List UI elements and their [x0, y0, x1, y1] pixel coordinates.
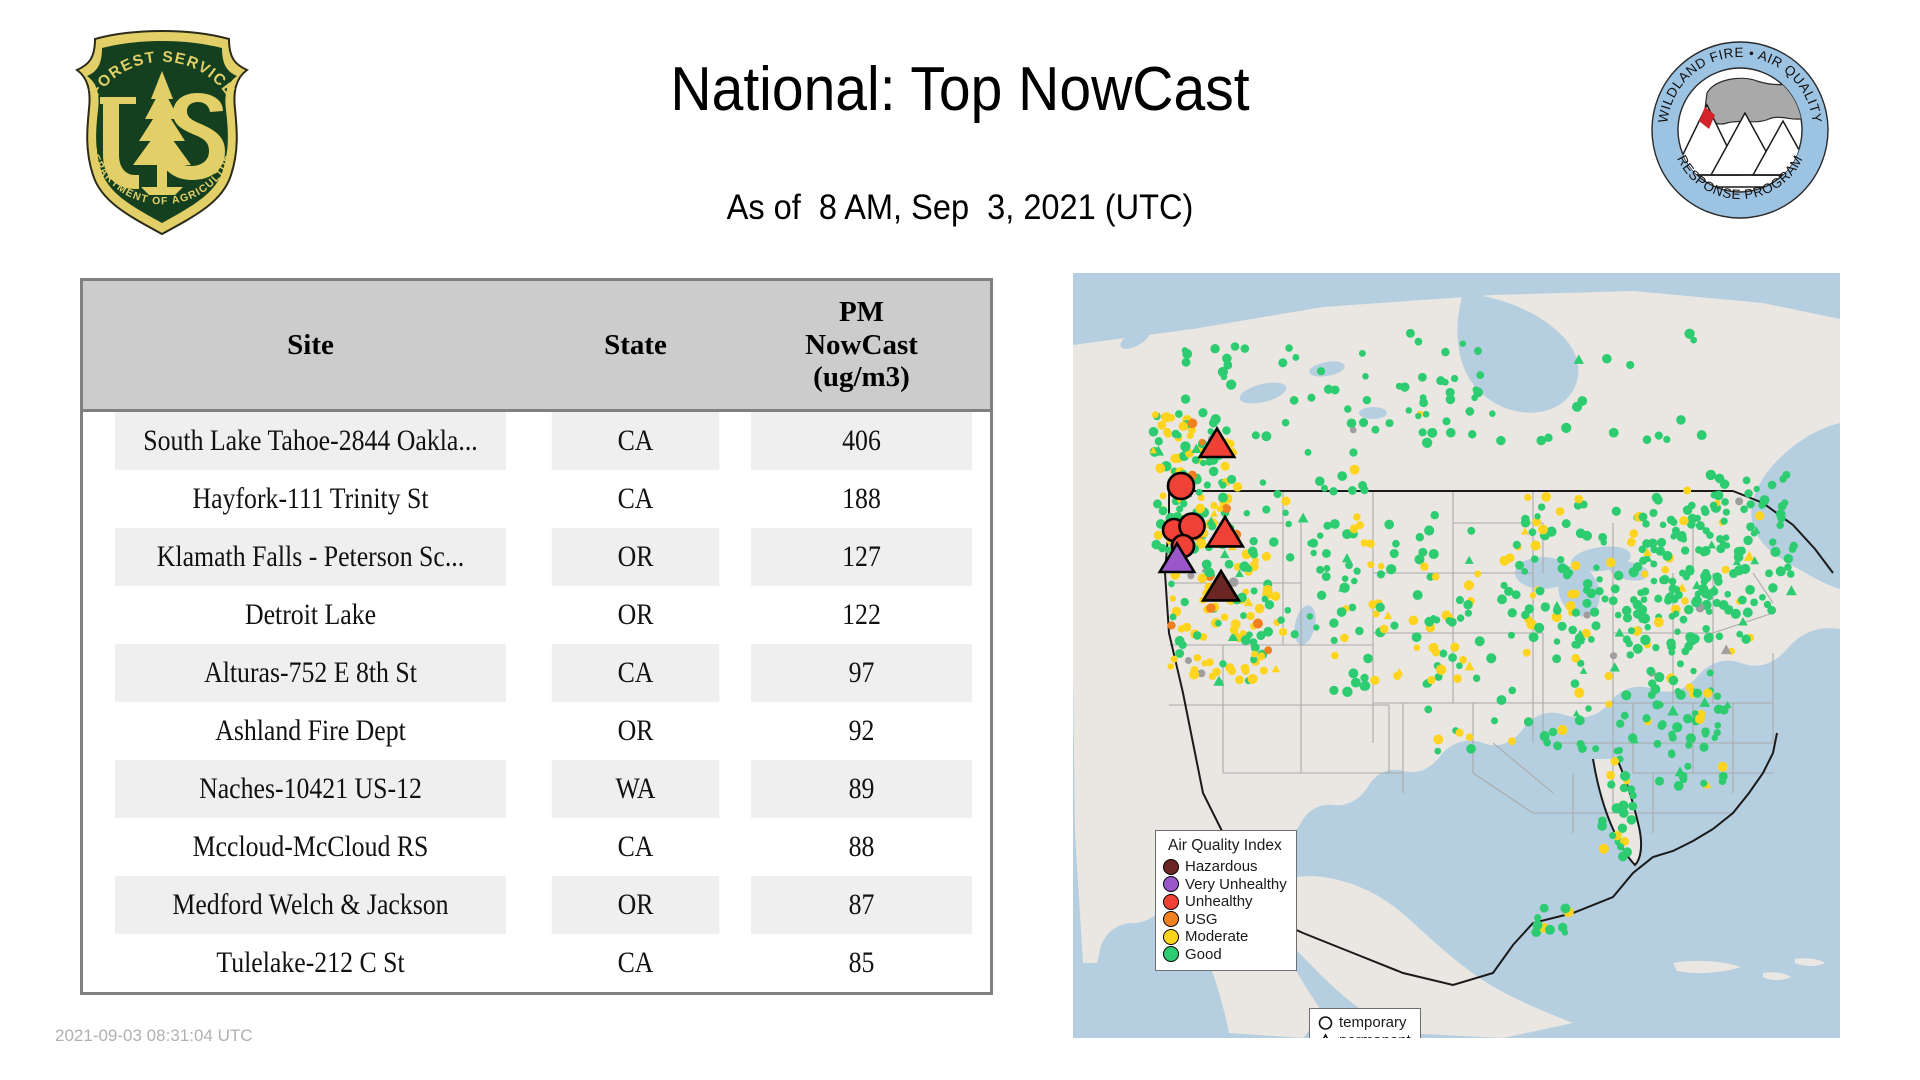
monitor-dot: [1436, 664, 1446, 674]
monitor-dot: [1601, 595, 1608, 602]
monitor-dot: [1260, 667, 1268, 675]
monitor-dot: [1378, 563, 1385, 570]
monitor-dot: [1513, 541, 1521, 549]
monitor-dot: [1305, 449, 1312, 456]
monitor-dot: [1697, 430, 1707, 440]
monitor-dot: [1453, 674, 1462, 683]
monitor-dot: [1744, 489, 1753, 498]
monitor-dot: [1278, 358, 1287, 367]
monitor-dot: [1331, 386, 1340, 395]
monitor-dot: [1707, 669, 1714, 676]
top-nowcast-table: Site State PM NowCast (ug/m3) South Lake…: [83, 281, 990, 992]
monitor-dot: [1534, 513, 1540, 519]
table-row[interactable]: Detroit LakeOR122: [83, 586, 990, 644]
monitor-dot: [1779, 475, 1786, 482]
monitor-dot: [1253, 618, 1263, 628]
monitor-dot: [1471, 394, 1478, 401]
monitor-dot: [1706, 470, 1716, 480]
monitor-dot: [1464, 580, 1474, 590]
legend-label-permanent: permanent: [1339, 1032, 1411, 1038]
monitor-dot: [1181, 394, 1190, 403]
cell-pm-nowcast: 127: [751, 528, 972, 586]
monitor-dot: [1743, 536, 1753, 546]
page-title: National: Top NowCast: [77, 54, 1843, 125]
monitor-dot: [1620, 784, 1628, 792]
monitor-dot: [1167, 621, 1175, 629]
monitor-dot: [1196, 489, 1203, 496]
top-site-shape: [1168, 473, 1194, 499]
monitor-dot: [1219, 482, 1226, 489]
monitor-dot: [1678, 531, 1687, 540]
monitor-dot: [1671, 596, 1679, 604]
monitor-dot: [1759, 495, 1769, 505]
monitor-dot: [1740, 505, 1748, 513]
monitor-dot: [1356, 521, 1364, 529]
monitor-dot: [1423, 411, 1430, 418]
monitor-dot: [1317, 591, 1326, 600]
monitor-dot: [1351, 578, 1358, 585]
monitor-dot: [1321, 485, 1328, 492]
monitor-dot: [1557, 725, 1567, 735]
monitor-dot: [1616, 720, 1624, 728]
monitor-dot: [1776, 566, 1786, 576]
monitor-dot: [1723, 509, 1730, 516]
table-row[interactable]: Tulelake-212 C StCA85: [83, 934, 990, 992]
monitor-dot: [1768, 583, 1778, 593]
monitor-dot: [1691, 597, 1701, 607]
monitor-dot: [1618, 852, 1628, 862]
monitor-dot: [1616, 747, 1623, 754]
monitor-dot: [1235, 675, 1244, 684]
cell-site: Naches-10421 US-12: [115, 760, 506, 818]
monitor-dot: [1429, 549, 1439, 559]
monitor-dot: [1218, 493, 1228, 503]
monitor-dot: [1534, 623, 1544, 633]
monitor-dot: [1679, 516, 1688, 525]
monitor-dot: [1746, 522, 1755, 531]
monitor-dot: [1225, 560, 1234, 569]
cell-pm-nowcast: 87: [751, 876, 972, 934]
monitor-dot: [1722, 566, 1730, 574]
monitor-dot: [1442, 417, 1450, 425]
monitor-dot: [1412, 632, 1422, 642]
monitor-dot: [1359, 418, 1368, 427]
monitor-dot: [1416, 533, 1424, 541]
monitor-dot: [1446, 428, 1456, 438]
monitor-dot: [1674, 781, 1684, 791]
monitor-dot: [1686, 683, 1694, 691]
monitor-dot: [1456, 662, 1463, 669]
monitor-dot: [1221, 462, 1230, 471]
monitor-dot: [1719, 777, 1727, 785]
monitor-dot: [1593, 564, 1599, 570]
cell-state: OR: [552, 876, 720, 934]
legend-label-temporary: temporary: [1339, 1014, 1407, 1032]
monitor-dot: [1577, 396, 1587, 406]
column-header-pm-nowcast[interactable]: PM NowCast (ug/m3): [733, 281, 990, 411]
monitor-dot: [1620, 771, 1630, 781]
monitor-dot: [1561, 423, 1571, 433]
table-row[interactable]: Klamath Falls - Peterson Sc...OR127: [83, 528, 990, 586]
monitor-dot: [1705, 633, 1713, 641]
monitor-dot: [1623, 613, 1632, 622]
monitor-dot: [1367, 561, 1374, 568]
monitor-dot: [1521, 611, 1529, 619]
monitor-dot: [1699, 743, 1708, 752]
monitor-dot: [1337, 471, 1347, 481]
monitor-dot: [1734, 552, 1744, 562]
monitor-dot: [1262, 505, 1270, 513]
monitor-dot: [1154, 531, 1163, 540]
monitor-dot: [1180, 500, 1188, 508]
monitor-dot: [1628, 802, 1637, 811]
monitor-dot: [1668, 749, 1675, 756]
cell-state: OR: [552, 586, 720, 644]
monitor-dot: [1609, 832, 1616, 839]
monitor-dot: [1386, 564, 1396, 574]
page-header: FOREST SERVICE DEPARTMENT OF AGRICULTURE: [0, 0, 1920, 265]
monitor-dot: [1545, 925, 1555, 935]
monitor-dot: [1170, 454, 1179, 463]
monitor-dot: [1640, 635, 1650, 645]
monitor-dot: [1273, 490, 1281, 498]
monitor-dot: [1714, 693, 1721, 700]
monitor-dot: [1541, 492, 1551, 502]
monitor-dot: [1172, 430, 1180, 438]
monitor-dot: [1329, 686, 1338, 695]
monitor-dot: [1310, 550, 1316, 556]
monitor-dot: [1262, 552, 1271, 561]
monitor-dot: [1646, 667, 1655, 676]
monitor-dot: [1678, 772, 1687, 781]
monitor-dot: [1209, 467, 1219, 477]
cell-state: CA: [552, 818, 720, 876]
monitor-dot: [1349, 448, 1357, 456]
column-header-site[interactable]: Site: [83, 281, 538, 411]
monitor-dot: [1572, 609, 1580, 617]
cell-state: WA: [552, 760, 720, 818]
monitor-dot: [1476, 371, 1484, 379]
monitor-dot: [1286, 553, 1294, 561]
monitor-dot: [1787, 570, 1795, 578]
monitor-dot: [1681, 597, 1689, 605]
monitor-dot: [1465, 610, 1472, 617]
cell-pm-nowcast: 406: [751, 411, 972, 471]
legend-row-permanent: permanent: [1317, 1032, 1411, 1038]
monitor-dot: [1496, 436, 1505, 445]
monitor-dot: [1409, 616, 1419, 626]
monitor-dot: [1552, 654, 1561, 663]
monitor-dot: [1194, 654, 1202, 662]
monitor-dot: [1429, 643, 1439, 653]
monitor-dot: [1734, 565, 1744, 575]
pm-header-line3: (ug/m3): [733, 361, 990, 393]
table-row[interactable]: Naches-10421 US-12WA89: [83, 760, 990, 818]
monitor-dot: [1181, 598, 1189, 606]
monitor-dot: [1710, 502, 1718, 510]
cell-state: OR: [552, 528, 720, 586]
monitor-dot: [1392, 540, 1400, 548]
monitor-dot: [1212, 668, 1221, 677]
table-row[interactable]: Hayfork-111 Trinity StCA188: [83, 470, 990, 528]
monitor-dot: [1790, 542, 1798, 550]
monitor-dot: [1571, 654, 1580, 663]
monitor-dot: [1185, 657, 1192, 664]
monitor-dot: [1446, 395, 1456, 405]
monitor-dot: [1222, 354, 1232, 364]
monitor-dot: [1350, 465, 1360, 475]
cell-pm-nowcast: 188: [751, 470, 972, 528]
aqi-legend-swatch: [1163, 946, 1179, 962]
monitor-dot: [1543, 739, 1551, 747]
monitor-dot: [1187, 572, 1194, 579]
monitor-dot: [1445, 617, 1452, 624]
aqi-map[interactable]: Air Quality Index HazardousVery Unhealth…: [1073, 273, 1840, 1038]
cell-site: Alturas-752 E 8th St: [115, 644, 506, 702]
monitor-dot: [1683, 505, 1692, 514]
monitor-dot: [1598, 533, 1607, 542]
monitor-dot: [1342, 575, 1349, 582]
monitor-dot: [1633, 600, 1643, 610]
monitor-dot: [1627, 815, 1637, 825]
monitor-dot: [1281, 496, 1290, 505]
table-header-row: Site State PM NowCast (ug/m3): [83, 281, 990, 411]
monitor-dot: [1400, 382, 1409, 391]
monitor-dot: [1720, 479, 1730, 489]
monitor-dot: [1651, 578, 1658, 585]
monitor-dot: [1420, 394, 1427, 401]
monitor-dot: [1609, 428, 1619, 438]
top-nowcast-table-container: Site State PM NowCast (ug/m3) South Lake…: [80, 278, 993, 995]
monitor-dot: [1475, 636, 1485, 646]
aqi-legend-title: Air Quality Index: [1163, 837, 1287, 855]
monitor-dot: [1467, 527, 1475, 535]
monitor-dot: [1670, 519, 1677, 526]
monitor-dot: [1584, 611, 1591, 618]
monitor-dot: [1576, 740, 1584, 748]
monitor-dot: [1155, 437, 1163, 445]
monitor-dot: [1217, 506, 1224, 513]
monitor-dot: [1349, 604, 1357, 612]
page-subtitle: As of 8 AM, Sep 3, 2021 (UTC): [67, 188, 1853, 228]
monitor-dot: [1629, 529, 1638, 538]
monitor-dot: [1724, 591, 1731, 598]
monitor-dot: [1562, 929, 1568, 935]
monitor-dot: [1714, 577, 1723, 586]
monitor-dot: [1376, 603, 1385, 612]
monitor-dot: [1316, 566, 1324, 574]
cell-site: Hayfork-111 Trinity St: [115, 470, 506, 528]
monitor-dot: [1168, 414, 1175, 421]
monitor-dot: [1422, 438, 1432, 448]
cell-state: CA: [552, 411, 720, 471]
monitor-dot: [1607, 781, 1615, 789]
monitor-dot: [1720, 541, 1727, 548]
monitor-dot: [1575, 715, 1585, 725]
monitor-dot: [1508, 608, 1517, 617]
top-site-marker-circle[interactable]: [1168, 473, 1194, 499]
monitor-dot: [1347, 418, 1357, 428]
aqi-legend-label: Hazardous: [1185, 858, 1258, 876]
column-header-state[interactable]: State: [538, 281, 733, 411]
aqi-legend-swatch: [1163, 911, 1179, 927]
monitor-dot: [1654, 595, 1662, 603]
cell-site: Klamath Falls - Peterson Sc...: [115, 528, 506, 586]
monitor-dot: [1340, 634, 1349, 643]
monitor-dot: [1680, 616, 1688, 624]
pm-header-line2: NowCast: [733, 329, 990, 361]
monitor-dot: [1418, 373, 1427, 382]
monitor-dot: [1230, 626, 1239, 635]
monitor-dot: [1714, 729, 1721, 736]
monitor-dot: [1769, 538, 1777, 546]
monitor-dot: [1702, 731, 1709, 738]
monitor-dot: [1244, 510, 1251, 517]
aqi-legend-swatch: [1163, 859, 1179, 875]
monitor-dot: [1702, 625, 1710, 633]
monitor-dot: [1491, 717, 1498, 724]
monitor-dot: [1669, 734, 1677, 742]
monitor-dot: [1424, 525, 1434, 535]
aqi-legend-row: Good: [1163, 946, 1287, 964]
monitor-dot: [1606, 771, 1615, 780]
monitor-dot: [1508, 632, 1515, 639]
monitor-dot: [1585, 705, 1592, 712]
monitor-dot: [1700, 572, 1709, 581]
monitor-dot: [1621, 690, 1631, 700]
table-body: South Lake Tahoe-2844 Oakla...CA406Hayfo…: [83, 411, 990, 993]
monitor-dot: [1529, 632, 1539, 642]
monitor-dot: [1690, 668, 1696, 674]
monitor-dot: [1515, 561, 1524, 570]
monitor-dot: [1540, 904, 1549, 913]
monitor-dot: [1450, 643, 1459, 652]
monitor-dot: [1226, 380, 1236, 390]
monitor-dot: [1163, 428, 1171, 436]
monitor-dot: [1331, 652, 1339, 660]
monitor-dot: [1629, 792, 1637, 800]
monitor-dot: [1317, 532, 1323, 538]
monitor-dot: [1171, 656, 1178, 663]
monitor-dot: [1521, 568, 1528, 575]
monitor-dot: [1463, 600, 1473, 610]
monitor-dot: [1609, 596, 1618, 605]
monitor-dot: [1765, 569, 1773, 577]
monitor-dot: [1219, 660, 1226, 667]
monitor-dot: [1468, 430, 1476, 438]
monitor-dot: [1385, 419, 1393, 427]
monitor-dot: [1636, 610, 1646, 620]
table-row[interactable]: South Lake Tahoe-2844 Oakla...CA406: [83, 411, 990, 471]
monitor-dot: [1257, 652, 1265, 660]
monitor-dot: [1536, 587, 1545, 596]
monitor-dot: [1370, 676, 1379, 685]
monitor-dot: [1743, 476, 1751, 484]
monitor-dot: [1508, 737, 1516, 745]
monitor-dot: [1505, 553, 1514, 562]
monitor-dot: [1342, 687, 1352, 697]
monitor-dot: [1331, 637, 1338, 644]
cell-state: CA: [552, 934, 720, 992]
monitor-dot: [1406, 407, 1412, 413]
monitor-dot: [1614, 571, 1624, 581]
monitor-dot: [1359, 350, 1366, 357]
table-row[interactable]: Mccloud-McCloud RSCA88: [83, 818, 990, 876]
monitor-dot: [1199, 439, 1206, 446]
cell-pm-nowcast: 89: [751, 760, 972, 818]
monitor-dot: [1424, 617, 1434, 627]
table-row[interactable]: Alturas-752 E 8th StCA97: [83, 644, 990, 702]
monitor-dot: [1351, 678, 1361, 688]
monitor-dot: [1317, 367, 1325, 375]
monitor-dot: [1571, 589, 1580, 598]
monitor-dot: [1557, 564, 1567, 574]
monitor-dot: [1524, 717, 1533, 726]
aqi-legend-swatch: [1163, 894, 1179, 910]
monitor-dot: [1610, 757, 1618, 765]
monitor-dot: [1741, 634, 1750, 643]
monitor-dot: [1210, 344, 1219, 353]
monitor-dot: [1611, 584, 1620, 593]
monitor-dot: [1652, 644, 1659, 651]
monitor-dot: [1627, 651, 1634, 658]
monitor-dot: [1246, 612, 1254, 620]
monitor-dot: [1676, 415, 1686, 425]
monitor-dot: [1178, 422, 1187, 431]
monitor-dot: [1451, 375, 1458, 382]
monitor-dot: [1195, 504, 1205, 514]
cell-pm-nowcast: 85: [751, 934, 972, 992]
table-header: Site State PM NowCast (ug/m3): [83, 281, 990, 411]
table-row[interactable]: Ashland Fire DeptOR92: [83, 702, 990, 760]
monitor-dot: [1549, 728, 1558, 737]
monitor-dot: [1307, 540, 1314, 547]
monitor-dot: [1755, 511, 1764, 520]
monitor-dot: [1424, 705, 1432, 713]
monitor-dot: [1193, 631, 1202, 640]
monitor-dot: [1153, 499, 1162, 508]
monitor-dot: [1776, 509, 1786, 519]
monitor-dot: [1641, 587, 1649, 595]
monitor-dot: [1523, 649, 1531, 657]
monitor-dot: [1666, 638, 1676, 648]
monitor-dot: [1650, 546, 1657, 553]
monitor-dot: [1486, 653, 1496, 663]
monitor-dot: [1264, 646, 1272, 654]
monitor-dot: [1285, 521, 1292, 528]
cell-state: OR: [552, 702, 720, 760]
monitor-dot: [1653, 740, 1661, 748]
monitor-dot: [1292, 354, 1299, 361]
monitor-dot: [1683, 487, 1691, 495]
monitor-dot: [1182, 349, 1192, 359]
monitor-dot: [1198, 408, 1207, 417]
monitor-dot: [1360, 486, 1368, 494]
monitor-dot: [1377, 570, 1385, 578]
monitor-dot: [1413, 644, 1420, 651]
monitor-dot: [1206, 603, 1215, 612]
monitor-dot: [1718, 762, 1728, 772]
monitor-dot: [1248, 547, 1257, 556]
monitor-dot: [1676, 690, 1686, 700]
monitor-dot: [1681, 648, 1689, 656]
monitor-dot: [1433, 734, 1443, 744]
monitor-dot: [1694, 515, 1701, 522]
monitor-dot: [1592, 745, 1599, 752]
table-row[interactable]: Medford Welch & JacksonOR87: [83, 876, 990, 934]
monitor-dot: [1160, 492, 1167, 499]
aqi-legend: Air Quality Index HazardousVery Unhealth…: [1155, 830, 1297, 971]
